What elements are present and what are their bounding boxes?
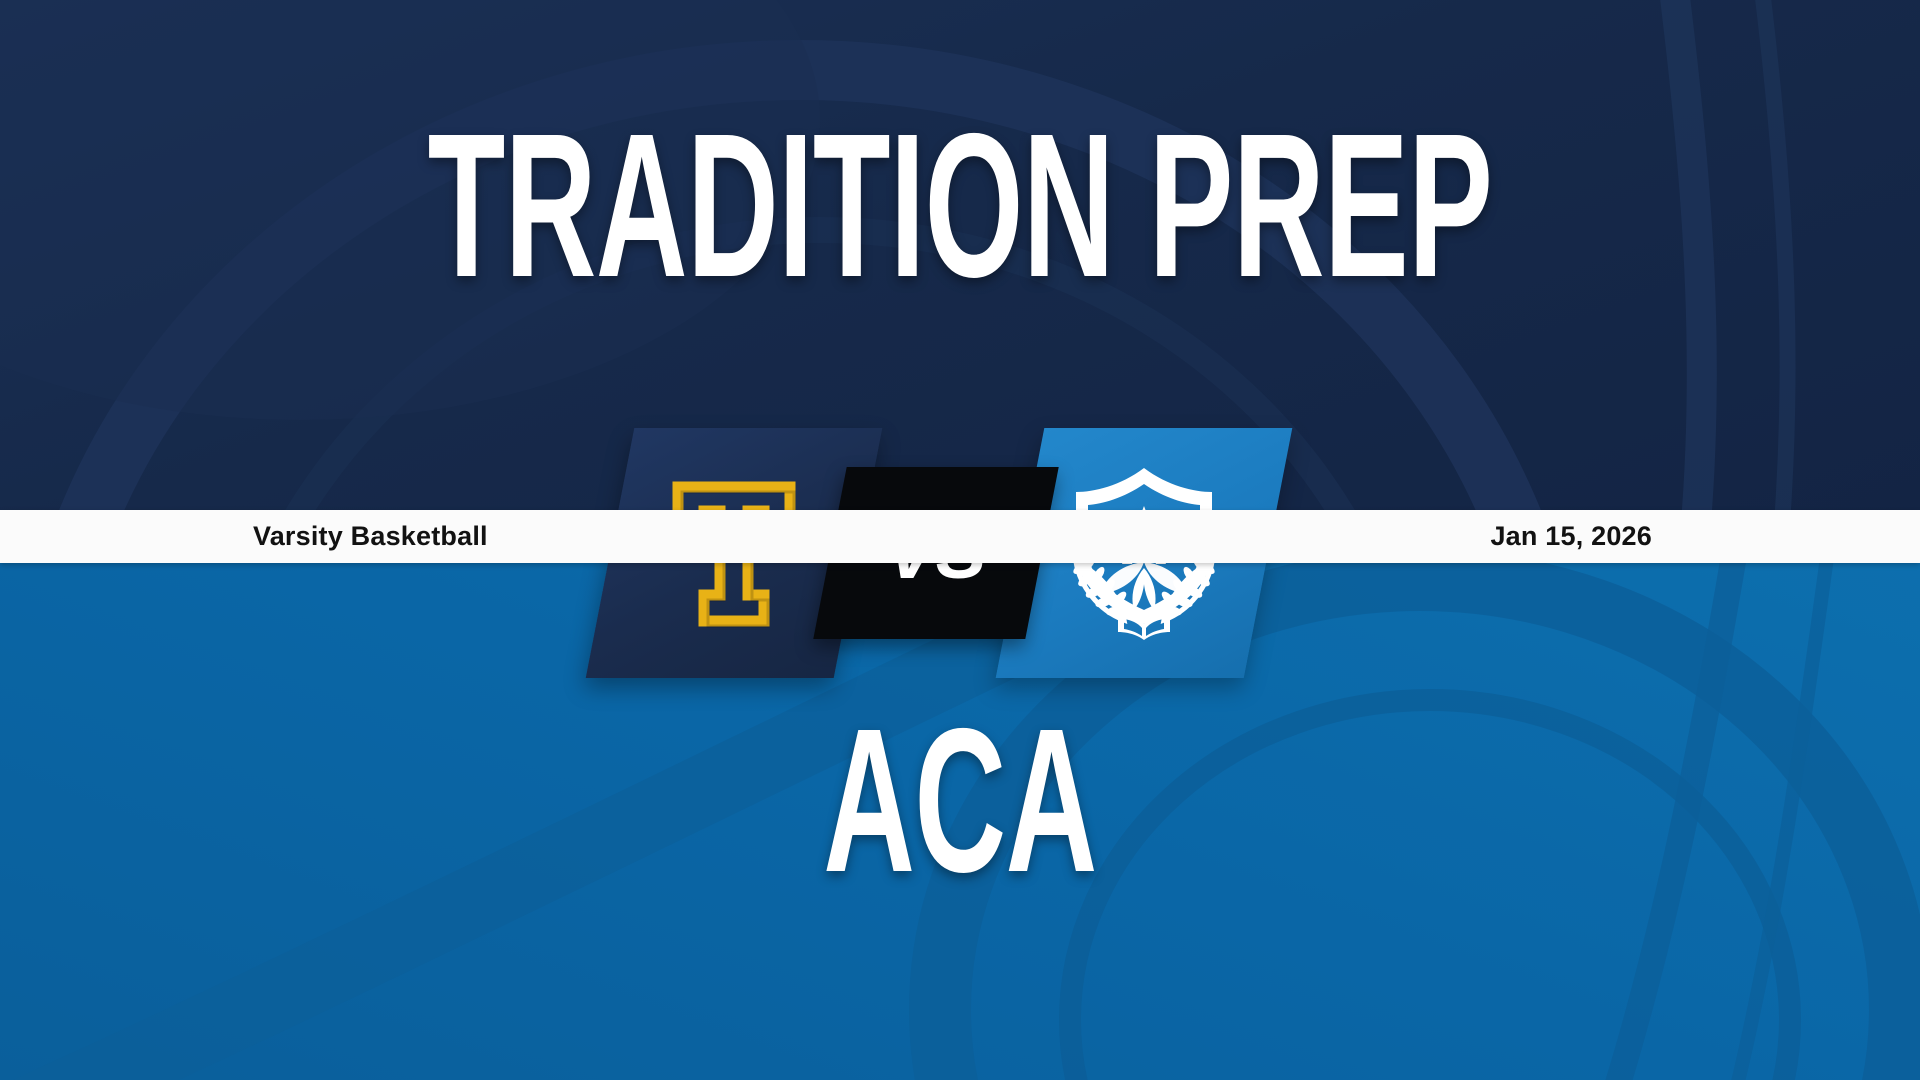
sport-label: Varsity Basketball: [253, 510, 488, 563]
matchup-graphic: TRADITION PREP VS: [0, 0, 1920, 1080]
home-team-title: TRADITION PREP: [365, 118, 1555, 294]
date-label: Jan 15, 2026: [1490, 510, 1652, 563]
away-team-title: ACA: [365, 713, 1555, 889]
